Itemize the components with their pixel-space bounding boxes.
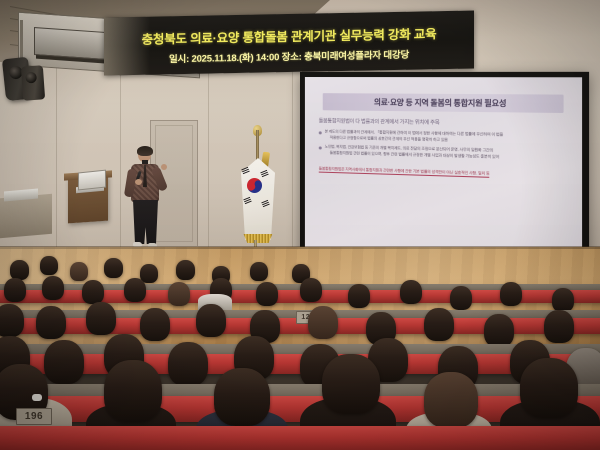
audience-area: 125 178 <box>0 248 600 450</box>
audience-head <box>348 284 370 308</box>
korean-flag <box>236 130 278 255</box>
presenter-left-hand <box>135 179 142 185</box>
seat-number-plate: 196 <box>16 408 52 425</box>
audience-head <box>44 340 84 384</box>
auditorium-photo: 충청북도 의료·요양 통합돌봄 관계기관 실무능력 강화 교육 일시: 2025… <box>0 0 600 450</box>
wall-speaker-secondary <box>21 65 45 100</box>
seat-row <box>0 426 600 450</box>
slide-bullet: 본 제도의 다른 법률과의 관계에서, 「통합지원에 관하여 이 법에서 정한 … <box>319 129 568 145</box>
audience-head <box>400 280 422 304</box>
presenter-hair <box>137 146 153 156</box>
audience-head <box>4 278 26 302</box>
audience-head <box>500 282 522 306</box>
audience-head <box>70 262 88 281</box>
audience-head <box>40 256 58 275</box>
audience-head <box>124 278 146 302</box>
slide-title: 의료·요양 등 지역 돌봄의 통합지원 필요성 <box>374 97 506 110</box>
projection-screen-frame: 의료·요양 등 지역 돌봄의 통합지원 필요성 돌봄통합지원법이 다 법률과의 … <box>300 72 589 274</box>
bullet-dot-icon <box>319 131 322 134</box>
speaker-cone-icon <box>25 72 37 84</box>
bullet-text-group: 노인법, 복지법, 건강보험법 등 기존의 개별 복지제도, 의료 전달의 조정… <box>325 145 568 162</box>
wall-seam <box>120 60 121 260</box>
projection-screen: 의료·요양 등 지역 돌봄의 통합지원 필요성 돌봄통합지원법이 다 법률과의 … <box>305 77 582 266</box>
flag-fringe <box>239 234 277 243</box>
audience-head <box>256 282 278 306</box>
presenter-trousers <box>133 200 158 244</box>
audience-head <box>484 314 514 347</box>
audience-head <box>168 342 208 386</box>
laptop-lid <box>78 170 106 191</box>
audience-head <box>214 368 270 426</box>
audience-head <box>544 310 574 343</box>
audience-head <box>424 308 454 341</box>
audience-head <box>308 306 338 339</box>
bullet-text-group: 본 제도의 다른 법률과의 관계에서, 「통합지원에 관하여 이 법에서 정한 … <box>325 129 568 145</box>
slide-title-bar: 의료·요양 등 지역 돌봄의 통합지원 필요성 <box>323 93 564 113</box>
slide-bullet: 노인법, 복지법, 건강보험법 등 기존의 개별 복지제도, 의료 전달의 조정… <box>319 145 568 163</box>
banner-subtitle: 일시: 2025.11.18.(화) 14:00 장소: 충북미래여성플라자 대… <box>169 46 409 65</box>
audience-head <box>82 280 104 304</box>
banner-title: 충청북도 의료·요양 통합돌봄 관계기관 실무능력 강화 교육 <box>142 23 437 48</box>
audience-head <box>176 260 195 280</box>
slide-heading: 돌봄통합지원법이 다 법률과의 관계에서 가지는 위치에 주목 <box>319 117 568 128</box>
presenter-right-hand <box>161 164 167 170</box>
audience-head <box>140 308 170 341</box>
slide-highlight-text: 돌봄통합지원법은 지역사회에서 통합지원과 관련한 사항에 관한 기본 법률의 … <box>319 166 490 178</box>
audience-head <box>300 278 322 302</box>
audience-head <box>520 358 578 418</box>
audience-head <box>86 302 116 335</box>
audience-head <box>322 354 380 414</box>
audience-head <box>0 304 24 337</box>
wall-seam <box>56 60 57 260</box>
audience-head <box>250 262 268 281</box>
audience-head <box>104 360 162 422</box>
audience-head <box>36 306 66 339</box>
event-banner: 충청북도 의료·요양 통합돌봄 관계기관 실무능력 강화 교육 일시: 2025… <box>104 10 474 75</box>
audience-head <box>424 372 478 428</box>
audience-head <box>450 286 472 310</box>
presenter <box>124 147 168 251</box>
wall-seam <box>292 60 293 260</box>
slide-body: 돌봄통합지원법이 다 법률과의 관계에서 가지는 위치에 주목 본 제도의 다른… <box>319 117 568 243</box>
wall-seam <box>208 60 209 260</box>
bullet-dot-icon <box>319 147 322 150</box>
face-mask <box>32 394 42 401</box>
audience-head <box>168 282 190 306</box>
audience-head <box>104 258 123 278</box>
audience-head <box>196 304 226 337</box>
audience-head <box>42 276 64 300</box>
audience-head <box>552 288 574 312</box>
audience-head <box>10 260 29 280</box>
